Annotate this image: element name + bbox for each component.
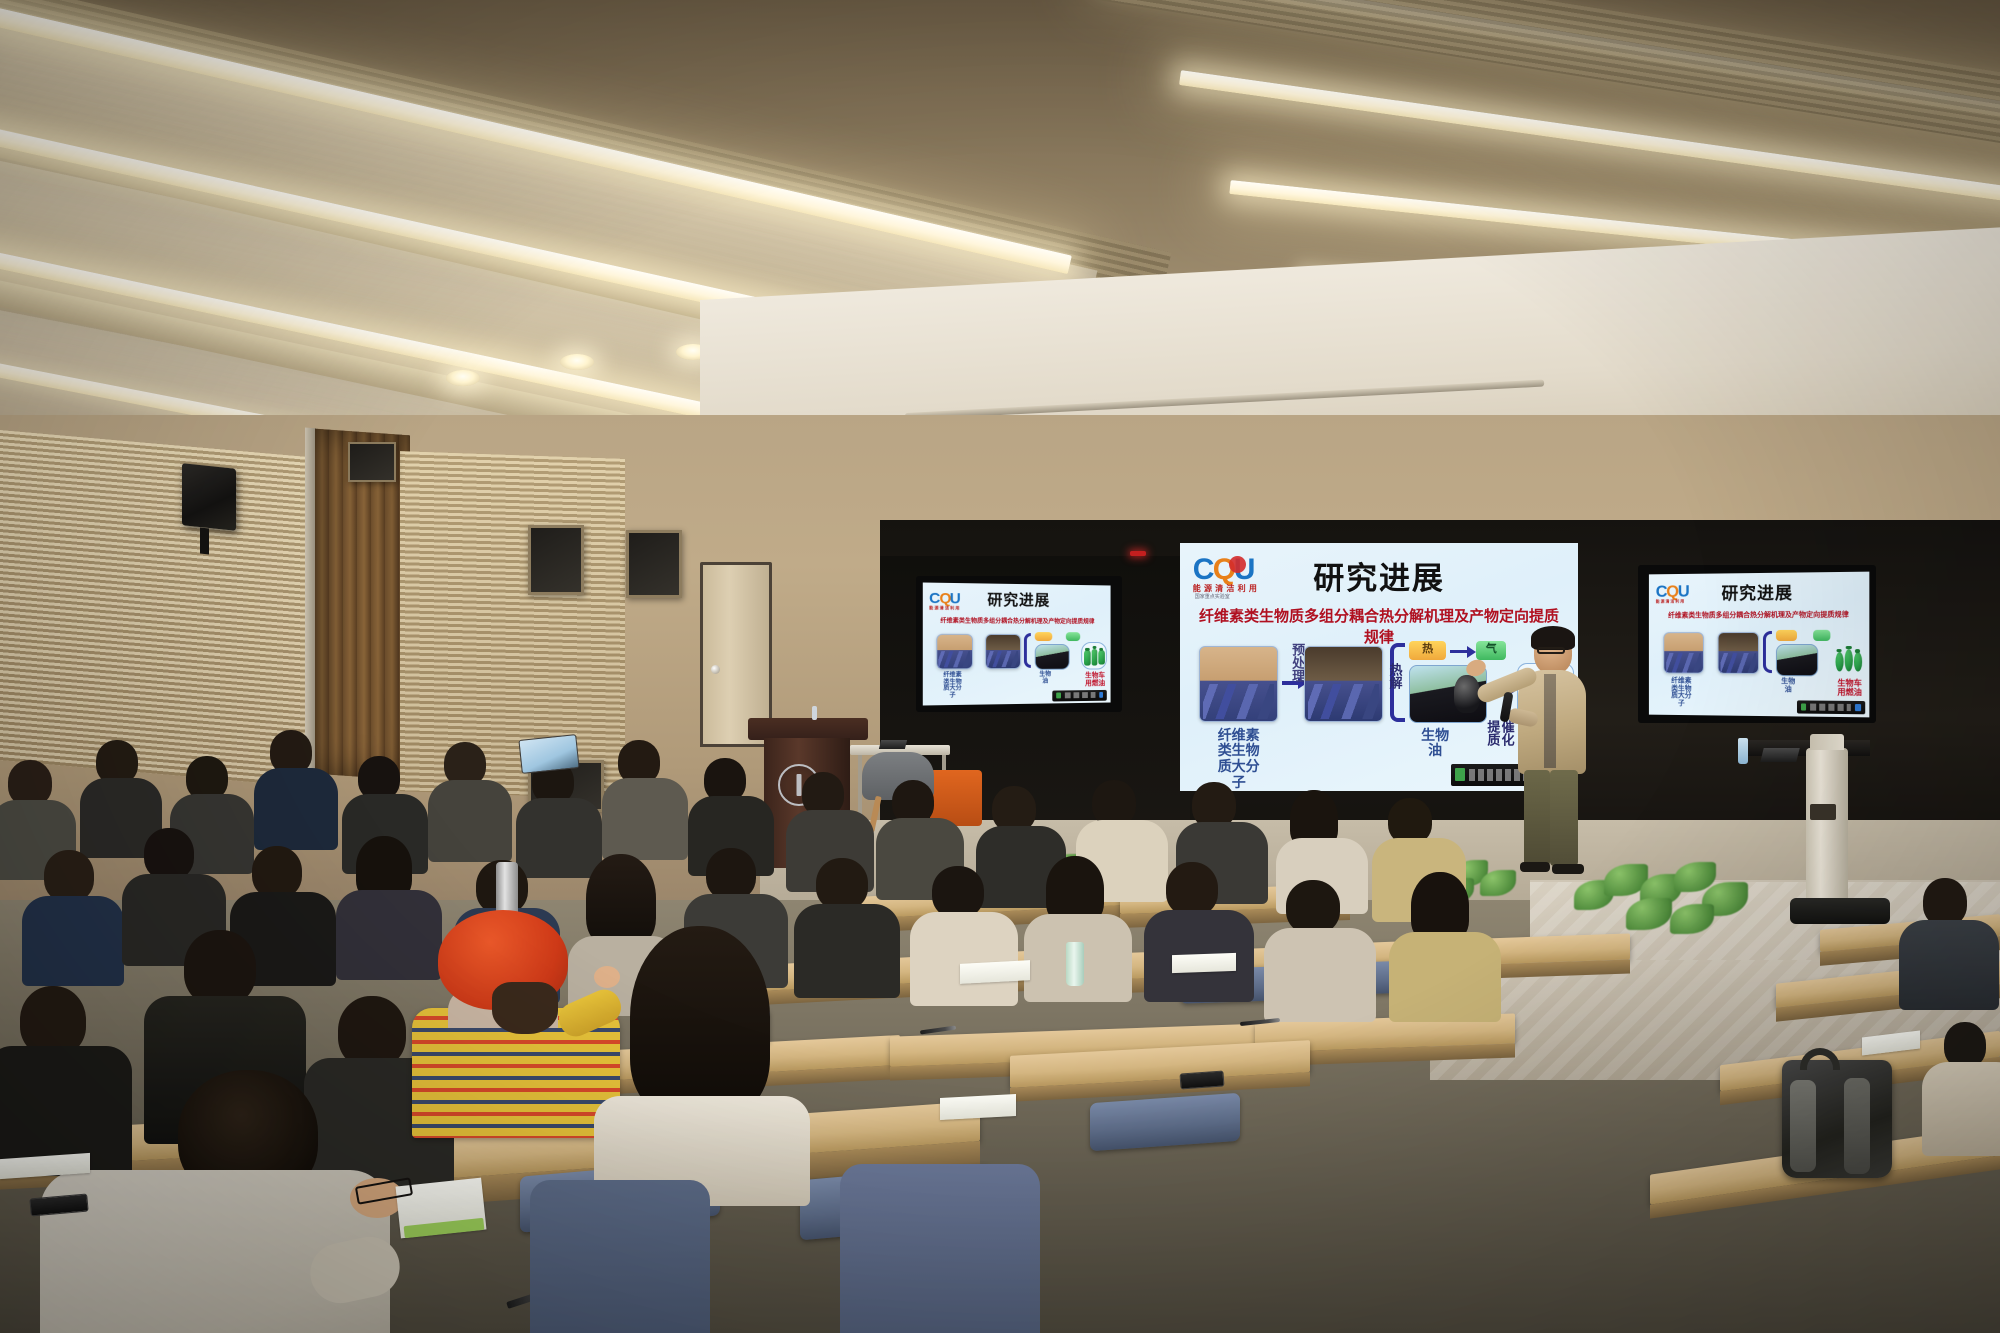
phone-on-desk-2[interactable] (1179, 1070, 1224, 1089)
wall-speaker (182, 463, 236, 531)
podium-laptop (879, 740, 907, 749)
water-cooler (1806, 748, 1848, 918)
flow-label-pyrolysis: 热解 (1383, 663, 1402, 689)
paper-mid-desk-1 (960, 960, 1030, 984)
water-cooler-control-panel[interactable] (1810, 804, 1836, 820)
wall-acoustic-panel-1 (528, 525, 584, 595)
left-flow-heat (1035, 632, 1052, 640)
flow-label-biooil: 生物 油 (1409, 728, 1461, 759)
biooil-flask (1454, 675, 1480, 713)
right-flow-img-1 (1663, 632, 1703, 674)
presenter-jacket-placket (1544, 674, 1556, 768)
flow-arrow-heat-to-gas (1450, 650, 1469, 653)
left-flow-label-feedstock: 纤维素 类生物 质大分 子 (932, 672, 972, 700)
wall-acoustic-panel-4 (348, 442, 396, 482)
flow-image-feedstock (1199, 646, 1278, 722)
downlight-1 (446, 370, 480, 386)
podium-top (748, 718, 868, 740)
right-monitor-subtitle: 纤维素类生物质多组分耦合热分解机理及产物定向提质规律 (1657, 610, 1860, 621)
phone-raised-recording[interactable] (518, 734, 579, 774)
student-right-2 (1930, 1022, 2000, 1142)
right-monitor-taskbar (1797, 701, 1865, 715)
podium-microphone (812, 706, 817, 720)
cream-coat-student (608, 926, 798, 1176)
student-right-1 (1905, 878, 1995, 998)
left-flow-label-biofuel: 生物车 用燃油 (1080, 673, 1110, 689)
audience-back-1 (0, 760, 70, 860)
audience-mid-12 (1270, 880, 1364, 1006)
right-flow-label-feedstock: 纤维素 类生物 质大分 子 (1659, 677, 1703, 708)
left-flow-img-2 (985, 634, 1021, 670)
control-laptop (1760, 748, 1799, 762)
flow-label-gas: 气 (1476, 643, 1506, 655)
right-auxiliary-monitor: C Q U 能 源 清 洁 利 用 研究进展 纤维素类生物质多组分耦合热分解机理… (1649, 572, 1869, 718)
left-flow-label-biooil: 生物 油 (1033, 672, 1057, 686)
status-led-indicator (1130, 551, 1146, 556)
av-equipment-cabinet (1740, 740, 1870, 756)
right-flow-heat (1776, 630, 1797, 640)
paper-near-desk-2 (940, 1094, 1016, 1120)
right-monitor-title: 研究进展 (1649, 577, 1869, 604)
red-beret-student (418, 900, 618, 1130)
right-flow-gas (1813, 630, 1830, 640)
flow-label-pretreat: 预处理 (1282, 643, 1304, 682)
right-flow-label-biooil: 生物 油 (1774, 678, 1803, 694)
presenter-glasses (1537, 647, 1565, 654)
flow-image-treated (1304, 646, 1383, 722)
left-flow-product (1081, 642, 1106, 670)
audience-mid-13 (1395, 872, 1489, 1000)
audience-mid-2 (130, 828, 214, 944)
audience-back-7 (520, 760, 592, 860)
downlight-2 (560, 354, 594, 370)
taskbar-icon-green (1455, 768, 1465, 781)
audience-back-4 (258, 730, 330, 834)
audience-back-6 (432, 742, 504, 846)
left-monitor-subtitle: 纤维素类生物质多组分耦合热分解机理及产物定向提质规律 (931, 616, 1104, 626)
treated-fiber-sticks (1308, 684, 1378, 720)
water-cooler-top (1810, 734, 1844, 750)
grey-hoodie-student-foreground (60, 1070, 390, 1333)
cream-coat-student-hair (630, 926, 770, 1116)
left-flow-gas (1066, 632, 1080, 640)
left-flow-bracket (1024, 633, 1031, 668)
feedstock-fiber-sticks (1203, 684, 1273, 720)
audience-front-right-1 (530, 1150, 700, 1333)
beret-student-hair (492, 982, 558, 1034)
left-monitor-title: 研究进展 (923, 587, 1111, 610)
water-bottle-on-desk (1066, 942, 1084, 986)
audience-mid-1 (30, 850, 114, 966)
audience-back-2 (88, 740, 158, 840)
flow-label-heat: 热 (1409, 643, 1446, 655)
audience-front-right-2 (840, 1124, 1030, 1333)
right-flow-img-2 (1718, 632, 1759, 674)
audience-back-8 (606, 740, 678, 844)
paper-mid-desk-2 (1172, 953, 1236, 973)
right-flow-biooil (1776, 644, 1818, 676)
right-flow-label-biofuel: 生物车 用燃油 (1830, 680, 1869, 698)
audience-mid-8 (800, 858, 890, 982)
audience-back-15 (1280, 790, 1354, 894)
left-flow-biooil (1035, 644, 1070, 671)
presenter (1516, 630, 1586, 870)
presenter-leg-right (1550, 770, 1578, 866)
lecture-hall-photo: C Q U 能 源 清 洁 利 用 国家重点实验室 研究进展 纤维素类生物质多组… (0, 0, 2000, 1333)
water-bottle-on-cabinet (1738, 738, 1748, 764)
flow-label-upgrade: 催化 提质 (1487, 720, 1513, 746)
left-auxiliary-monitor: C Q U 能 源 清 洁 利 用 研究进展 纤维素类生物质多组分耦合热分解机理… (923, 582, 1111, 705)
right-flow-product (1833, 642, 1865, 676)
stage-plant-3 (1570, 860, 1760, 936)
left-flow-img-1 (936, 633, 972, 669)
right-flow-bracket (1763, 631, 1771, 673)
slide-title: 研究进展 (1180, 553, 1578, 598)
flat-bag-on-desk (1790, 898, 1890, 924)
wall-acoustic-panel-2 (626, 530, 682, 598)
door-knob[interactable] (711, 665, 720, 674)
left-monitor-taskbar (1052, 690, 1107, 701)
flow-label-feedstock: 纤维素 类生物 质大分 子 (1196, 728, 1282, 791)
wall-speaker-bracket (200, 528, 209, 555)
audience-back-9 (692, 758, 764, 860)
